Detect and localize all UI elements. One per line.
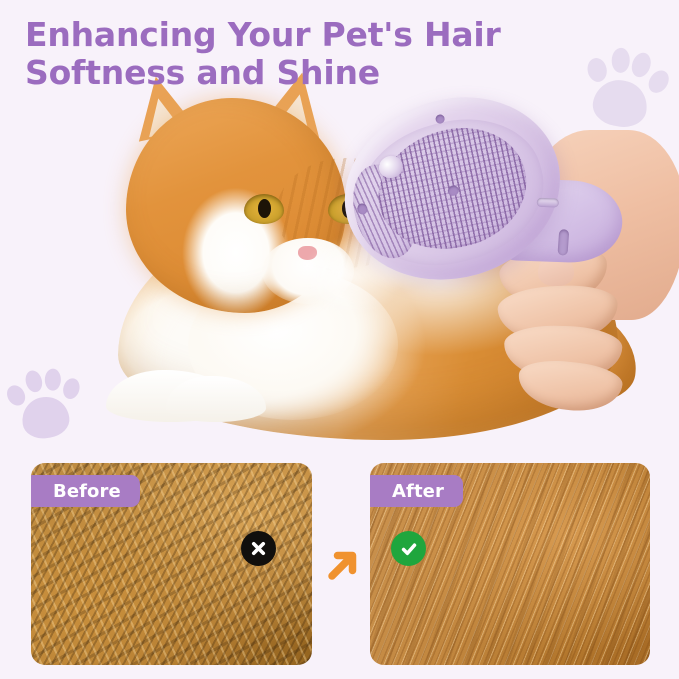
cat-nose [298,246,317,260]
headline: Enhancing Your Pet's Hair Softness and S… [25,16,545,91]
arrow-up-right-icon [320,543,364,587]
before-panel: Before [31,463,312,665]
product-marketing-poster: Enhancing Your Pet's Hair Softness and S… [0,0,679,679]
cat-head [126,98,346,313]
after-badge: After [370,475,463,507]
check-mark-icon [391,531,426,566]
cat-eye [244,194,284,224]
hero-photo [0,70,679,455]
x-mark-icon [241,531,276,566]
brush-release-slot [557,229,569,256]
brush-power-button [537,198,559,208]
before-badge: Before [31,475,140,507]
